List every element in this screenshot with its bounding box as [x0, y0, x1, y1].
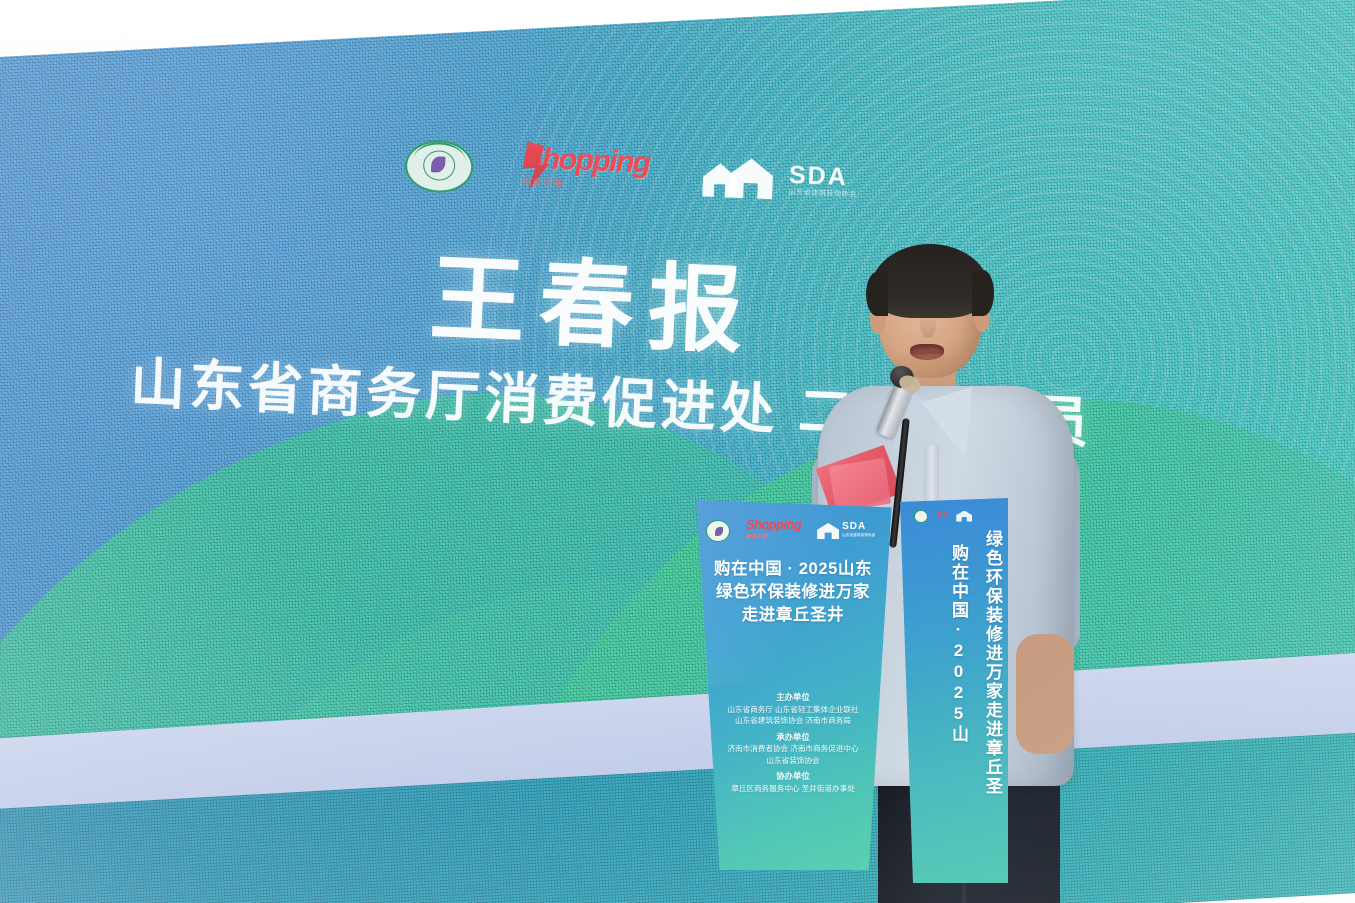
credit-line: 山东省装饰协会	[688, 755, 898, 767]
speech-paper-sheet	[829, 458, 892, 512]
hair	[870, 244, 990, 318]
podium-title-line-3: 走进章丘圣井	[688, 604, 898, 627]
shopping-logo-sublabel: 购在中国	[746, 531, 801, 544]
sda-logo-mini-icon	[956, 511, 972, 522]
podium-credits: 主办单位 山东省商务厅 山东省轻工集体企业联社 山东省建筑装饰协会 济南市商务局…	[688, 692, 898, 794]
banner-logo-row: Sh	[914, 508, 1000, 524]
banner-column-left: 购在中国·2025山	[949, 544, 968, 874]
shopping-in-china-logo-icon: Shopping 购在中国	[746, 518, 801, 544]
sda-logo-icon: SDA 山东省建筑装饰协会	[817, 522, 875, 540]
eco-certification-logo-icon	[706, 520, 730, 542]
credit-line: 山东省商务厅 山东省轻工集体企业联社	[688, 704, 898, 716]
shopping-logo-mini-icon: Sh	[937, 512, 947, 520]
sda-logo-label: SDA	[789, 163, 858, 190]
podium-lectern: Shopping 购在中国 SDA 山东省建筑装饰协会 购在中国 · 2025山…	[688, 500, 898, 870]
credit-heading: 承办单位	[688, 732, 898, 744]
eco-certification-logo-icon	[914, 510, 928, 523]
credit-line: 山东省建筑装饰协会 济南市商务局	[688, 715, 898, 727]
right-forearm	[1016, 634, 1074, 754]
speaker-name-heading: 王春报	[428, 249, 759, 363]
sda-logo-icon: SDA 山东省建筑装饰协会	[702, 157, 858, 203]
podium-title-line-1: 购在中国 · 2025山东	[688, 558, 898, 581]
sda-logo-sublabel: 山东省建筑装饰协会	[842, 531, 875, 540]
podium-title: 购在中国 · 2025山东 绿色环保装修进万家 走进章丘圣井	[688, 558, 898, 627]
vertical-side-banner: Sh 绿色环保装修进万家走进章丘圣 购在中国·2025山	[900, 498, 1008, 883]
shopping-logo-label: Shopping	[746, 517, 801, 532]
sda-logo-sublabel: 山东省建筑装饰协会	[788, 187, 857, 200]
banner-column-right: 绿色环保装修进万家走进章丘圣	[983, 530, 1002, 870]
podium-title-line-2: 绿色环保装修进万家	[688, 581, 898, 604]
credit-heading: 主办单位	[688, 692, 898, 704]
shopping-in-china-logo-icon: Shopping 购在中国	[522, 144, 654, 201]
photo-scene: Shopping 购在中国 SDA 山东省建筑装饰协会 王春报 山东省商务厅消费…	[0, 0, 1355, 903]
credit-line: 章丘区商务服务中心 圣井街道办事处	[688, 783, 898, 795]
credit-line: 济南市消费者协会 济南市商务促进中心	[688, 743, 898, 755]
eco-certification-logo-icon	[404, 135, 474, 198]
podium-logo-row: Shopping 购在中国 SDA 山东省建筑装饰协会	[706, 518, 882, 544]
credit-heading: 协办单位	[688, 771, 898, 783]
